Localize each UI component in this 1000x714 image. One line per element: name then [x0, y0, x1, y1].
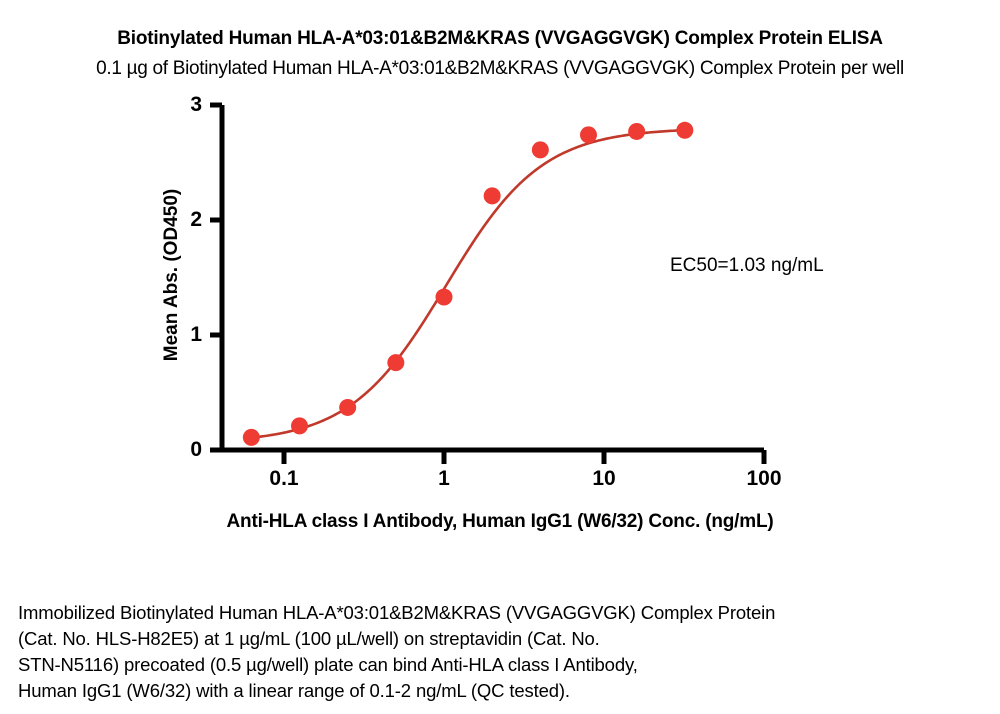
data-point-marker: [387, 354, 404, 371]
y-axis-title: Mean Abs. (OD450): [161, 125, 183, 425]
x-tick-label: 100: [746, 467, 781, 491]
data-point-marker: [676, 122, 693, 139]
y-tick-label: 3: [162, 93, 202, 117]
figure-caption: Immobilized Biotinylated Human HLA-A*03:…: [18, 600, 968, 704]
caption-line-3: STN-N5116) precoated (0.5 µg/well) plate…: [18, 652, 968, 678]
data-point-marker: [484, 187, 501, 204]
chart-tick-marks: [210, 105, 764, 464]
y-tick-label: 1: [162, 323, 202, 347]
caption-line-4: Human IgG1 (W6/32) with a linear range o…: [18, 678, 968, 704]
data-point-marker: [580, 126, 597, 143]
chart-svg: [0, 0, 1000, 560]
chart-axes: [219, 105, 764, 450]
x-axis-title: Anti-HLA class I Antibody, Human IgG1 (W…: [0, 511, 1000, 533]
x-tick-label: 1: [438, 467, 450, 491]
caption-line-1: Immobilized Biotinylated Human HLA-A*03:…: [18, 600, 968, 626]
x-tick-label: 0.1: [269, 467, 298, 491]
x-tick-label: 10: [592, 467, 615, 491]
data-point-marker: [339, 399, 356, 416]
chart-fit-curve: [246, 130, 687, 438]
data-point-marker: [291, 417, 308, 434]
data-point-marker: [628, 123, 645, 140]
chart-plot-area: Mean Abs. (OD450) Anti-HLA class I Antib…: [0, 0, 1000, 560]
data-point-marker: [436, 289, 453, 306]
data-point-marker: [532, 141, 549, 158]
y-tick-label: 0: [162, 438, 202, 462]
y-tick-label: 2: [162, 208, 202, 232]
caption-line-2: (Cat. No. HLS-H82E5) at 1 µg/mL (100 µL/…: [18, 626, 968, 652]
data-point-marker: [243, 429, 260, 446]
ec50-annotation: EC50=1.03 ng/mL: [670, 255, 824, 277]
chart-data-points: [243, 122, 693, 446]
